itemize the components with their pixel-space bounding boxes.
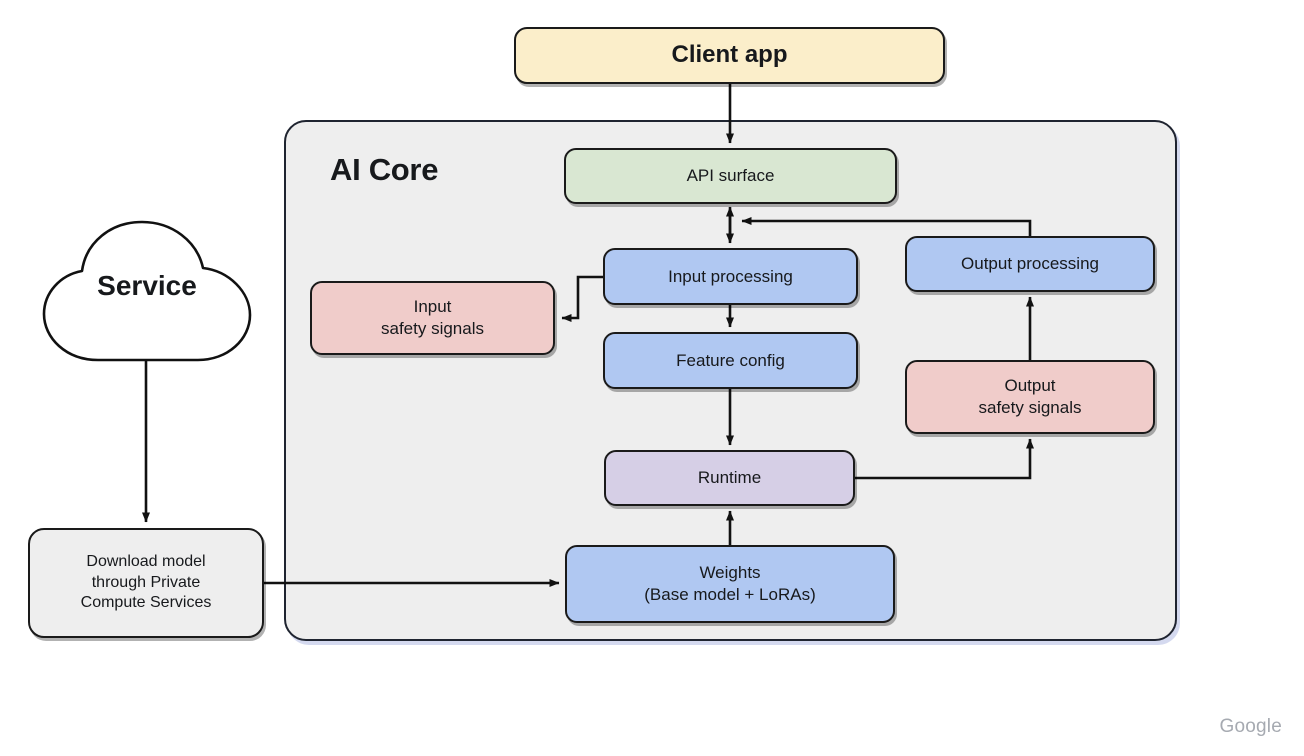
runtime-label: Runtime	[698, 467, 761, 489]
node-output-safety-signals[interactable]: Output safety signals	[905, 360, 1155, 434]
diagram-canvas: AI Core Service Client app API surface I…	[0, 0, 1304, 756]
output-safety-label-line1: Output	[1004, 375, 1055, 397]
node-api-surface[interactable]: API surface	[564, 148, 897, 204]
node-output-processing[interactable]: Output processing	[905, 236, 1155, 292]
edge-runtime-to-output-safety	[855, 439, 1030, 478]
edge-input-processing-to-input-safety	[562, 277, 603, 318]
weights-label-line2: (Base model + LoRAs)	[644, 584, 816, 606]
feature-config-label: Feature config	[676, 350, 785, 372]
api-surface-label: API surface	[687, 165, 775, 187]
output-safety-label-line2: safety signals	[979, 397, 1082, 419]
node-feature-config[interactable]: Feature config	[603, 332, 858, 389]
download-model-label-line2: through Private	[92, 573, 201, 593]
edge-output-processing-to-api-surface	[742, 221, 1030, 236]
node-input-processing[interactable]: Input processing	[603, 248, 858, 305]
node-input-safety-signals[interactable]: Input safety signals	[310, 281, 555, 355]
download-model-label-line3: Compute Services	[81, 593, 212, 613]
google-wordmark: Google	[1220, 716, 1282, 738]
output-processing-label: Output processing	[961, 253, 1099, 275]
node-weights[interactable]: Weights (Base model + LoRAs)	[565, 545, 895, 623]
input-safety-label-line2: safety signals	[381, 318, 484, 340]
service-label: Service	[38, 270, 256, 302]
node-runtime[interactable]: Runtime	[604, 450, 855, 506]
node-client-app[interactable]: Client app	[514, 27, 945, 84]
weights-label-line1: Weights	[699, 562, 760, 584]
input-processing-label: Input processing	[668, 266, 793, 288]
node-download-model[interactable]: Download model through Private Compute S…	[28, 528, 264, 638]
input-safety-label-line1: Input	[414, 296, 452, 318]
download-model-label-line1: Download model	[86, 552, 205, 572]
client-app-label: Client app	[671, 40, 787, 71]
